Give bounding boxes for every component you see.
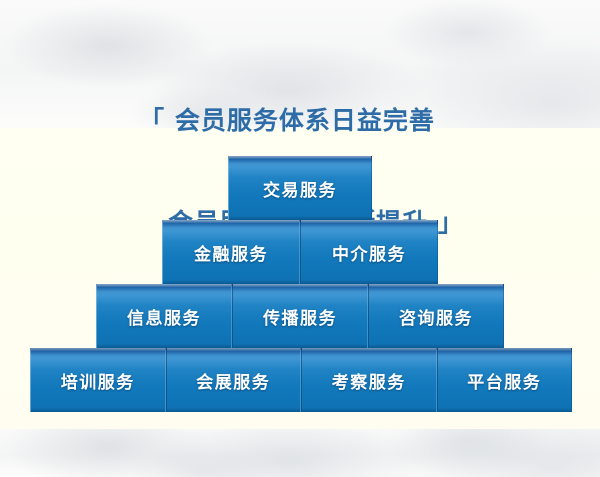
pyramid-block-exhibition[interactable]: 会展服务 [166, 348, 302, 412]
pyramid-row-1: 交易服务 [228, 156, 372, 220]
pyramid-block-label: 考察服务 [332, 368, 406, 393]
pyramid-block-communication[interactable]: 传播服务 [232, 284, 368, 348]
pyramid-block-training[interactable]: 培训服务 [30, 348, 166, 412]
pyramid-block-label: 中介服务 [332, 240, 406, 265]
pyramid-drop-shadow [30, 348, 572, 354]
pyramid-block-label: 咨询服务 [399, 304, 473, 329]
slide-canvas: 「 会员服务体系日益完善 会员服务能级不断提升 」 交易服务 金融服务 中介服务… [0, 0, 600, 477]
pyramid-block-finance[interactable]: 金融服务 [162, 220, 300, 284]
pyramid-block-label: 信息服务 [127, 304, 201, 329]
pyramid-block-label: 金融服务 [194, 240, 268, 265]
pyramid-block-label: 交易服务 [263, 176, 337, 201]
pyramid-block-transaction[interactable]: 交易服务 [228, 156, 372, 220]
page-title-line-1: 「 会员服务体系日益完善 [0, 104, 600, 138]
pyramid-row-4: 培训服务 会展服务 考察服务 平台服务 [30, 348, 572, 412]
pyramid-block-platform[interactable]: 平台服务 [437, 348, 573, 412]
pyramid-block-label: 会展服务 [196, 368, 270, 393]
pyramid-block-label: 传播服务 [263, 304, 337, 329]
pyramid-block-label: 平台服务 [467, 368, 541, 393]
pyramid-row-3: 信息服务 传播服务 咨询服务 [96, 284, 504, 348]
pyramid-block-label: 培训服务 [61, 368, 135, 393]
background-marble-bottom [0, 429, 600, 477]
pyramid-block-intermediary[interactable]: 中介服务 [300, 220, 438, 284]
pyramid-row-2: 金融服务 中介服务 [162, 220, 438, 284]
pyramid-block-inspection[interactable]: 考察服务 [301, 348, 437, 412]
pyramid-block-consulting[interactable]: 咨询服务 [368, 284, 504, 348]
pyramid-block-information[interactable]: 信息服务 [96, 284, 232, 348]
